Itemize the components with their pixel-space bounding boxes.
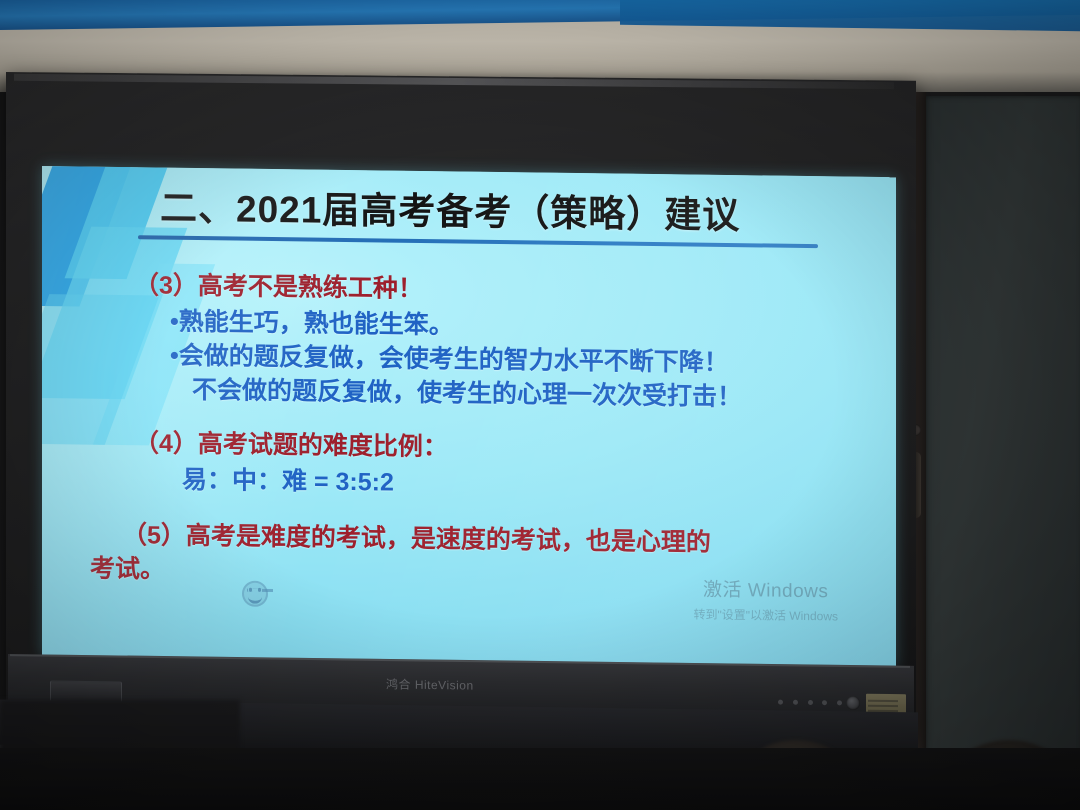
bezel-button[interactable] <box>837 700 842 705</box>
smiley-mouth <box>248 593 262 604</box>
sticker-text-line <box>868 700 898 702</box>
blackboard-panel <box>922 96 1080 756</box>
powerpoint-slide[interactable]: 二、2021届高考备考（策略）建议 （3）高考不是熟练工种！ •熟能生巧，熟也能… <box>42 166 896 667</box>
slide-line-item-4-ratio: 易：中：难 = 3:5:2 <box>182 460 394 499</box>
smiley-face-icon[interactable] <box>242 581 268 607</box>
bezel-button-row[interactable] <box>778 700 842 707</box>
foreground-floor <box>0 748 1080 810</box>
slide-line-bullet-3-3: 不会做的题反复做，使考生的心理一次次受打击！ <box>192 370 742 413</box>
smiley-eye-left <box>249 588 252 592</box>
device-brand-logo: 鸿合 HiteVision <box>386 675 474 693</box>
smiley-eye-right <box>258 588 261 592</box>
sticker-text-line <box>868 705 898 707</box>
bezel-button[interactable] <box>793 700 798 705</box>
classroom-photo-scene: 二、2021届高考备考（策略）建议 （3）高考不是熟练工种！ •熟能生巧，熟也能… <box>0 0 1080 810</box>
slide-line-item-5-line2: 考试。 <box>90 549 165 586</box>
bezel-button[interactable] <box>808 700 813 705</box>
bezel-button[interactable] <box>822 700 827 705</box>
slide-line-item-4: （4）高考试题的难度比例： <box>134 423 448 463</box>
slide-line-item-5-line1: （5）高考是难度的考试，是速度的考试，也是心理的 <box>122 515 711 559</box>
slide-body: （3）高考不是熟练工种！ •熟能生巧，熟也能生笨。 •会做的题反复做，会使考生的… <box>42 166 896 667</box>
power-button-icon[interactable] <box>846 696 860 710</box>
slide-line-item-3: （3）高考不是熟练工种！ <box>134 265 423 305</box>
bezel-button[interactable] <box>778 700 783 705</box>
display-screen[interactable]: 二、2021届高考备考（策略）建议 （3）高考不是熟练工种！ •熟能生巧，熟也能… <box>42 166 896 667</box>
